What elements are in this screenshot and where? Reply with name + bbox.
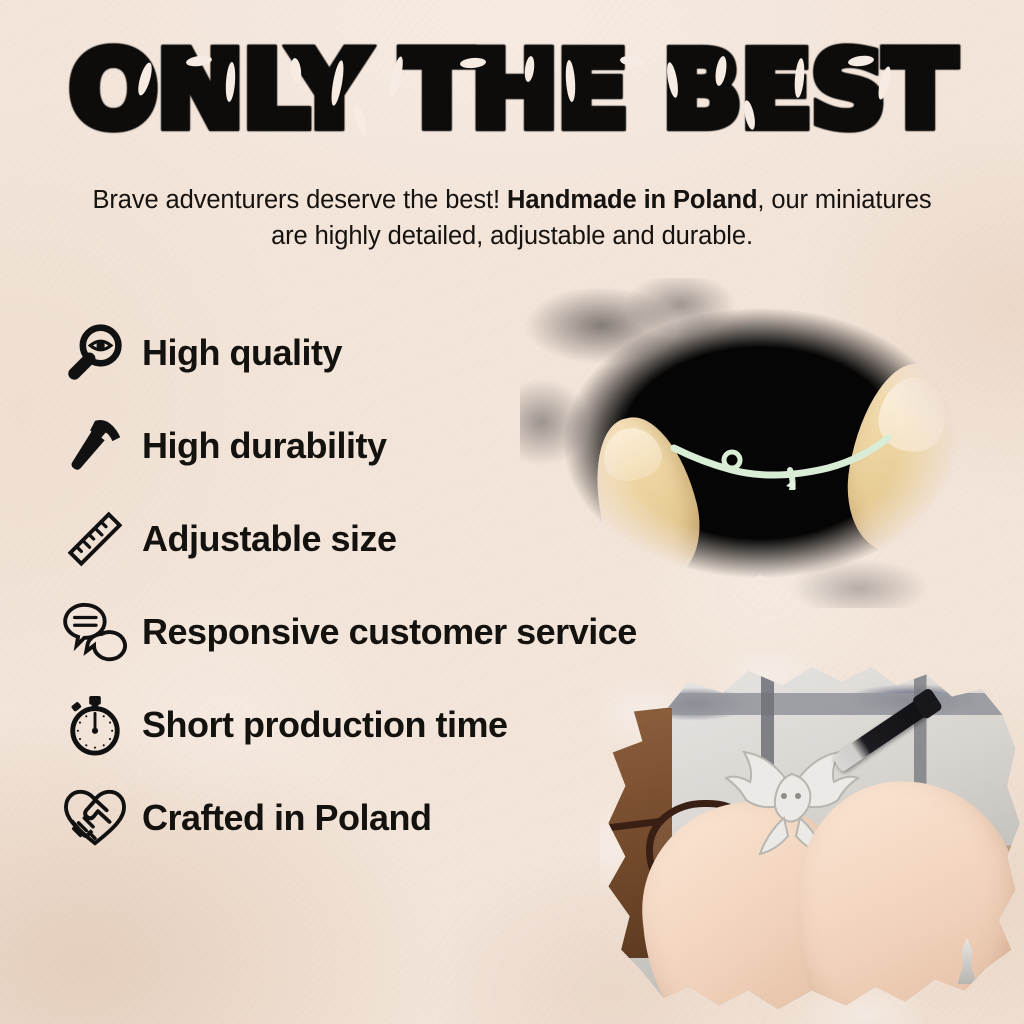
magnifier-eye-icon [56,317,134,389]
flexible-miniature-photo [520,278,1000,608]
feature-label: Short production time [142,704,507,746]
subtitle-lead: Brave adventurers deserve the best! [92,186,500,214]
subtitle-highlight: Handmade in Poland [507,186,757,214]
ruler-icon [56,503,134,575]
page-title: ONLY THE BEST [0,34,1024,146]
fingertip-right [836,355,975,561]
feature-label: High durability [142,425,387,467]
poster-root: ONLY THE BEST Brave adventurers deserve … [0,0,1024,1024]
feature-label: Adjustable size [142,518,397,560]
fingernail [874,372,952,456]
feature-label: Responsive customer service [142,611,637,653]
feature-label: High quality [142,332,342,374]
speech-bubbles-icon [56,596,134,668]
subtitle: Brave adventurers deserve the best! Hand… [0,182,1024,254]
workshop-painting-photo [600,652,1024,1024]
stopwatch-icon [56,689,134,761]
fingernail [597,422,666,486]
heart-handshake-icon [56,782,134,854]
fingertip-left [579,407,712,590]
feature-label: Crafted in Poland [142,797,432,839]
photo-torn-mask [600,652,1024,1024]
hammer-icon [56,410,134,482]
photo-black-backdrop [520,278,1000,608]
